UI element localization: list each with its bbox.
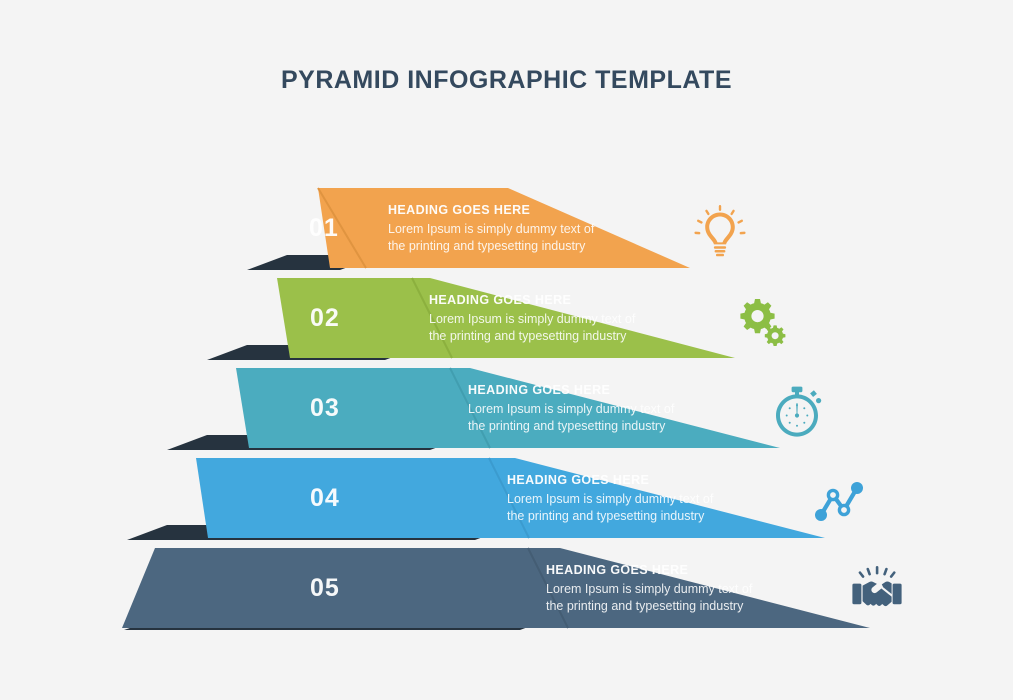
level-05-band xyxy=(122,548,870,628)
level-05-heading: HEADING GOES HERE xyxy=(546,563,752,577)
level-05-body-line1: Lorem Ipsum is simply dummy text of xyxy=(546,581,752,598)
pyramid-chart: 01 HEADING GOES HERE Lorem Ipsum is simp… xyxy=(0,175,1013,645)
level-05-text: HEADING GOES HERE Lorem Ipsum is simply … xyxy=(546,563,752,615)
level-05-body-line2: the printing and typesetting industry xyxy=(546,598,752,615)
pyramid-level-05[interactable]: 05 HEADING GOES HERE Lorem Ipsum is simp… xyxy=(0,175,1013,645)
page-title: PYRAMID INFOGRAPHIC TEMPLATE xyxy=(0,66,1013,95)
handshake-icon xyxy=(849,563,905,619)
level-05-number: 05 xyxy=(310,574,340,603)
